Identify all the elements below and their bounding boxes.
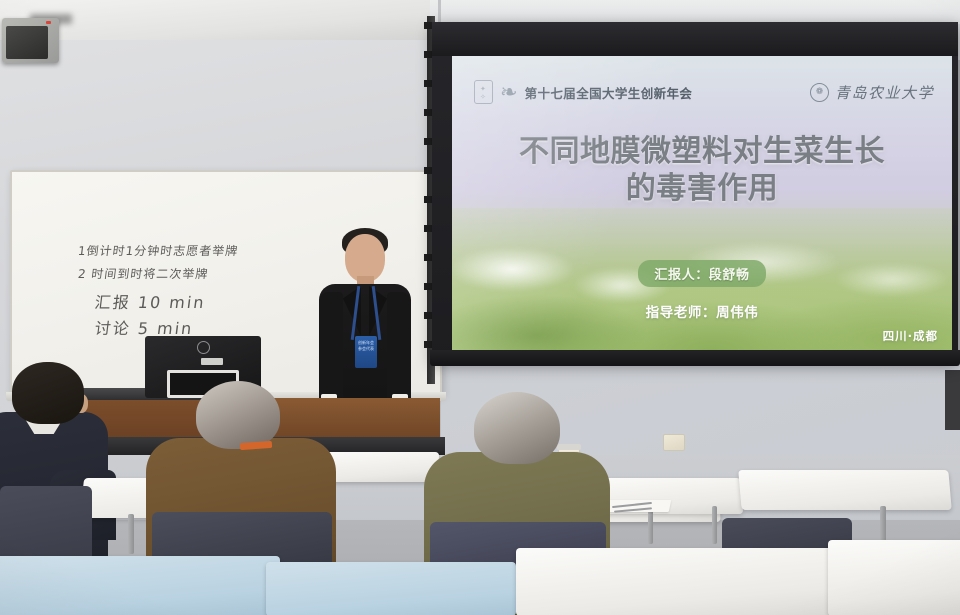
speaker-grille-icon xyxy=(6,26,48,59)
audience-1-head xyxy=(12,362,84,424)
monitor-label-sticker xyxy=(201,358,223,365)
monitor-brand-logo-icon xyxy=(197,341,210,354)
slide-title: 不同地膜微塑料对生菜生长 的毒害作用 xyxy=(482,134,922,207)
advisor-name-text: 指导老师：周伟伟 xyxy=(452,301,952,321)
desk-front-row-center-blue xyxy=(266,562,516,615)
presenter-arm-left xyxy=(319,292,343,404)
speaker-power-led xyxy=(46,21,51,24)
light-switch-plate[interactable] xyxy=(663,434,685,451)
slide-title-line-1: 不同地膜微塑料对生菜生长 xyxy=(482,134,922,171)
projection-screen-top-bar xyxy=(432,22,958,56)
presenter-name-text: 汇报人：段舒畅 xyxy=(638,260,765,287)
event-banner-text: 第十七届全国大学生创新年会 xyxy=(525,83,693,102)
slide-title-line-2: 的毒害作用 xyxy=(482,171,922,208)
slide-header: ❧ 第十七届全国大学生创新年会 ❁ 青岛农业大学 xyxy=(474,76,934,108)
sparkle-box-icon xyxy=(474,80,493,104)
desk-front-row-left xyxy=(0,556,280,615)
presenter-head xyxy=(345,234,385,282)
whiteboard-note-line-2: 2 时间到时将二次举牌 xyxy=(77,265,210,282)
university-branding: ❁ 青岛农业大学 xyxy=(810,82,934,103)
ceiling-speaker xyxy=(2,18,59,63)
presentation-slide: ❧ 第十七届全国大学生创新年会 ❁ 青岛农业大学 不同地膜微塑料对生菜生长 的毒… xyxy=(452,56,952,352)
desk-right-side xyxy=(738,470,951,510)
desk-front-row-right xyxy=(828,540,960,615)
whiteboard-note-line-1: 1倒计时1分钟时志愿者举牌 xyxy=(77,242,239,259)
desk-leg-1 xyxy=(648,510,653,544)
location-text: 四川·成都 xyxy=(883,328,938,344)
swoosh-logo-icon: ❧ xyxy=(500,82,518,103)
classroom-scene: 1倒计时1分钟时志愿者举牌 2 时间到时将二次举牌 汇报 10 min 讨论 5… xyxy=(0,0,960,615)
desk-front-row-center-white xyxy=(516,548,836,615)
desk-leg-4 xyxy=(128,514,134,554)
event-branding: ❧ 第十七届全国大学生创新年会 xyxy=(474,80,692,104)
audience-3-head xyxy=(474,392,560,464)
desk-leg-2 xyxy=(712,506,717,544)
presenter-pill: 汇报人：段舒畅 xyxy=(452,260,952,287)
university-name-text: 青岛农业大学 xyxy=(835,82,934,103)
right-wall-dark-panel xyxy=(945,370,960,430)
whiteboard-note-line-3: 汇报 10 min xyxy=(94,289,208,313)
university-seal-icon: ❁ xyxy=(810,83,829,102)
tea-jar-lid xyxy=(557,444,581,450)
audience-2-head xyxy=(196,381,280,449)
presenter-arm-right xyxy=(387,292,411,404)
badge-line-2: 参会代表 xyxy=(355,346,377,352)
presenter-badge: 创新年会 参会代表 xyxy=(355,336,377,368)
projection-screen-bottom-bar xyxy=(430,350,960,366)
